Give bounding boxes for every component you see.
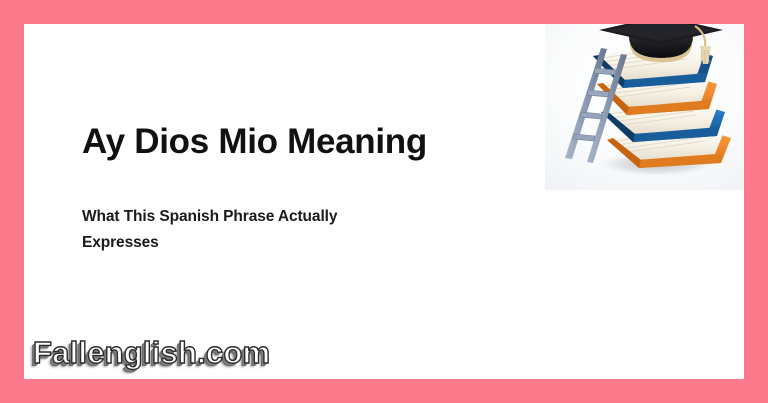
slide-card: Ay Dios Mio Meaning What This Spanish Ph… [0,0,768,403]
site-watermark: Fallenglish.com [33,335,270,371]
page-subtitle: What This Spanish Phrase Actually Expres… [82,204,412,256]
stack-of-books-with-graduation-cap-and-ladder-icon [545,24,744,190]
page-title: Ay Dios Mio Meaning [82,124,427,161]
content-canvas: Ay Dios Mio Meaning What This Spanish Ph… [24,24,744,379]
books-illustration [545,24,744,190]
